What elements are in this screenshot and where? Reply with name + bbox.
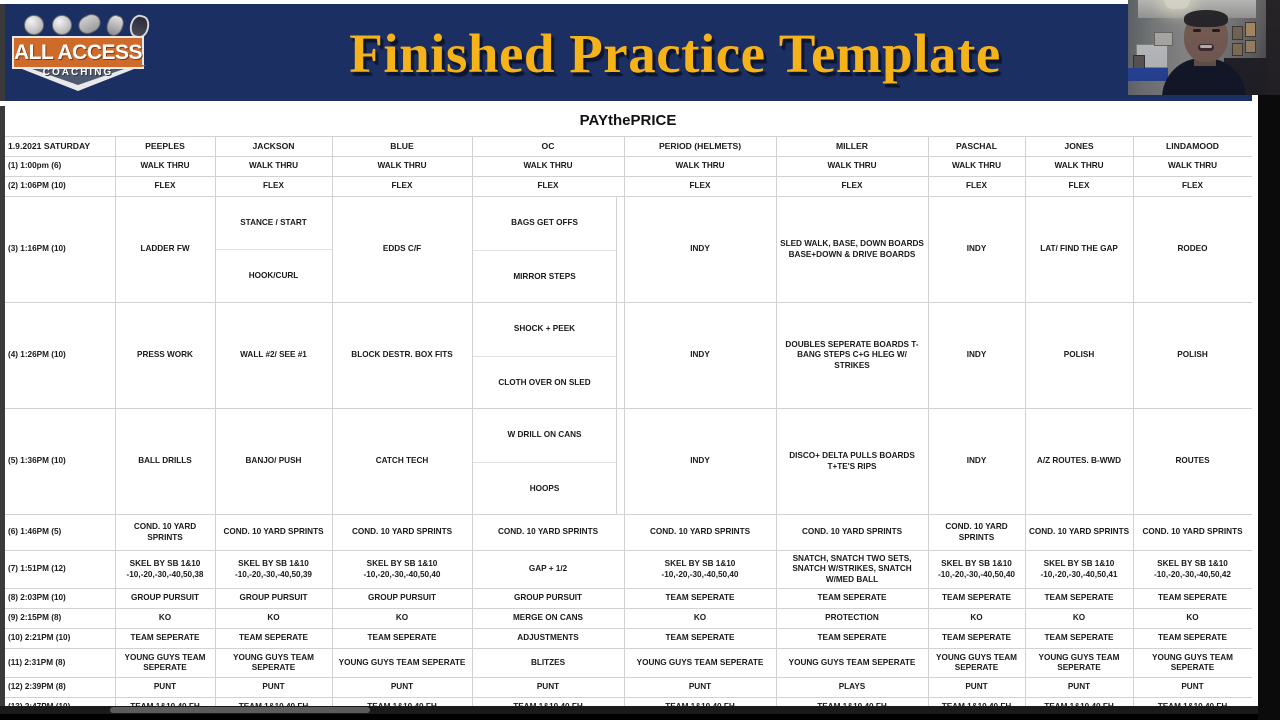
title-banner: Finished Practice Template [0, 4, 1252, 101]
schedule-cell[interactable]: FLEX [332, 177, 472, 197]
schedule-cell[interactable]: TEAM SEPERATE [1025, 629, 1133, 649]
period-time-cell[interactable]: (2) 1:06PM (10) [5, 177, 115, 197]
all-access-coaching-logo: ALL ACCESS COACHING [8, 10, 148, 102]
schedule-cell[interactable]: SNATCH, SNATCH TWO SETS, SNATCH W/STRIKE… [776, 551, 928, 589]
period-time-cell[interactable]: (8) 2:03PM (10) [5, 589, 115, 609]
schedule-cell[interactable]: KO [332, 609, 472, 629]
schedule-cell[interactable]: GROUP PURSUIT [472, 589, 624, 609]
scrollbar-thumb[interactable] [110, 707, 370, 713]
screen-share-window: Finished Practice Template ALL ACCESS CO… [0, 0, 1280, 720]
schedule-cell[interactable]: TEAM SEPERATE [115, 629, 215, 649]
schedule-cell[interactable]: KO [1025, 609, 1133, 629]
schedule-cell[interactable]: CATCH TECH [332, 409, 472, 515]
schedule-subcell[interactable]: HOOK/CURL [216, 250, 332, 303]
column-header-coach[interactable]: PEEPLES [115, 137, 215, 157]
schedule-cell[interactable]: TEAM SEPERATE [624, 629, 776, 649]
schedule-cell[interactable]: GROUP PURSUIT [332, 589, 472, 609]
column-header-coach[interactable]: LINDAMOOD [1133, 137, 1252, 157]
period-time-cell[interactable]: (12) 2:39PM (8) [5, 678, 115, 698]
table-row: (5) 1:36PM (10)BALL DRILLSBANJO/ PUSHCAT… [5, 409, 1252, 515]
schedule-cell[interactable]: PUNT [1133, 678, 1252, 698]
schedule-cell[interactable]: YOUNG GUYS TEAM SEPERATE [928, 649, 1025, 678]
schedule-cell[interactable]: WALK THRU [928, 157, 1025, 177]
schedule-cell[interactable]: WALK THRU [624, 157, 776, 177]
period-time-cell[interactable]: (5) 1:36PM (10) [5, 409, 115, 515]
schedule-cell[interactable]: LADDER FW [115, 197, 215, 303]
baseball-icon [24, 15, 44, 35]
period-time-cell[interactable]: (9) 2:15PM (8) [5, 609, 115, 629]
schedule-cell[interactable]: KO [115, 609, 215, 629]
schedule-cell[interactable]: TEAM SEPERATE [776, 589, 928, 609]
period-time-cell[interactable]: (4) 1:26PM (10) [5, 303, 115, 409]
logo-sub-text: COACHING [22, 67, 134, 78]
schedule-cell[interactable]: TEAM SEPERATE [624, 589, 776, 609]
schedule-cell[interactable]: GROUP PURSUIT [115, 589, 215, 609]
schedule-cell[interactable]: BALL DRILLS [115, 409, 215, 515]
schedule-cell[interactable]: PRESS WORK [115, 303, 215, 409]
schedule-cell[interactable]: COND. 10 YARD SPRINTS [1025, 515, 1133, 551]
schedule-cell[interactable]: PLAYS [776, 678, 928, 698]
period-time-cell[interactable]: (6) 1:46PM (5) [5, 515, 115, 551]
table-row: (7) 1:51PM (12)SKEL BY SB 1&10 -10,-20,-… [5, 551, 1252, 589]
column-header-coach[interactable]: PASCHAL [928, 137, 1025, 157]
schedule-cell[interactable]: FLEX [1133, 177, 1252, 197]
table-row: (2) 1:06PM (10)FLEXFLEXFLEXFLEXFLEXFLEXF… [5, 177, 1252, 197]
schedule-cell[interactable]: TEAM SEPERATE [215, 629, 332, 649]
schedule-cell[interactable]: SLED WALK, BASE, DOWN BOARDS BASE+DOWN &… [776, 197, 928, 303]
schedule-cell[interactable]: PUNT [928, 678, 1025, 698]
schedule-cell[interactable]: WALK THRU [215, 157, 332, 177]
schedule-cell[interactable]: TEAM SEPERATE [928, 589, 1025, 609]
schedule-subcell[interactable]: HOOPS [473, 463, 617, 515]
schedule-cell[interactable]: ROUTES [1133, 409, 1252, 515]
schedule-subcell[interactable]: BAGS GET OFFS [473, 197, 617, 251]
schedule-cell[interactable]: KO [215, 609, 332, 629]
schedule-cell[interactable]: SKEL BY SB 1&10 -10,-20,-30,-40,50,41 [1025, 551, 1133, 589]
schedule-cell[interactable]: INDY [624, 303, 776, 409]
schedule-cell[interactable]: A/Z ROUTES. B-WWD [1025, 409, 1133, 515]
schedule-cell[interactable]: EDDS C/F [332, 197, 472, 303]
schedule-cell[interactable]: PUNT [472, 678, 624, 698]
schedule-subcell[interactable]: CLOTH OVER ON SLED [473, 357, 617, 409]
schedule-cell[interactable]: TEAM SEPERATE [1025, 589, 1133, 609]
logo-main-text: ALL ACCESS [14, 38, 142, 67]
schedule-cell[interactable]: LAT/ FIND THE GAP [1025, 197, 1133, 303]
schedule-subcell[interactable]: MIRROR STEPS [473, 251, 617, 303]
schedule-cell[interactable]: KO [624, 609, 776, 629]
column-header-date[interactable]: 1.9.2021 SATURDAY [5, 137, 115, 157]
schedule-cell[interactable]: PUNT [624, 678, 776, 698]
schedule-cell[interactable]: FLEX [624, 177, 776, 197]
practice-schedule-table[interactable]: 1.9.2021 SATURDAYPEEPLESJACKSONBLUEOCPER… [5, 136, 1252, 708]
schedule-cell[interactable]: INDY [624, 197, 776, 303]
schedule-cell[interactable]: WALK THRU [332, 157, 472, 177]
schedule-cell[interactable]: INDY [928, 197, 1025, 303]
schedule-cell[interactable]: COND. 10 YARD SPRINTS [624, 515, 776, 551]
table-row: (8) 2:03PM (10)GROUP PURSUITGROUP PURSUI… [5, 589, 1252, 609]
schedule-cell[interactable]: FLEX [115, 177, 215, 197]
schedule-cell[interactable]: FLEX [776, 177, 928, 197]
period-time-cell[interactable]: (11) 2:31PM (8) [5, 649, 115, 678]
schedule-cell[interactable]: KO [1133, 609, 1252, 629]
schedule-cell[interactable]: SKEL BY SB 1&10 -10,-20,-30,-40,50,40 [332, 551, 472, 589]
schedule-cell[interactable]: SKEL BY SB 1&10 -10,-20,-30,-40,50,40 [624, 551, 776, 589]
table-row: (12) 2:39PM (8)PUNTPUNTPUNTPUNTPUNTPLAYS… [5, 678, 1252, 698]
logo-wordmark: ALL ACCESS [12, 36, 144, 69]
schedule-cell[interactable]: WALL #2/ SEE #1 [215, 303, 332, 409]
period-time-cell[interactable]: (3) 1:16PM (10) [5, 197, 115, 303]
schedule-cell[interactable]: DISCO+ DELTA PULLS BOARDS T+TE'S RIPS [776, 409, 928, 515]
schedule-cell[interactable]: TEAM SEPERATE [1133, 589, 1252, 609]
column-header-coach[interactable]: JACKSON [215, 137, 332, 157]
schedule-cell[interactable]: STANCE / STARTHOOK/CURL [215, 197, 332, 303]
schedule-cell[interactable]: W DRILL ON CANSHOOPS [472, 409, 624, 515]
schedule-cell[interactable]: COND. 10 YARD SPRINTS [472, 515, 624, 551]
schedule-cell[interactable]: TEAM SEPERATE [928, 629, 1025, 649]
period-time-cell[interactable]: (7) 1:51PM (12) [5, 551, 115, 589]
schedule-cell[interactable]: PUNT [115, 678, 215, 698]
football-icon [75, 11, 104, 38]
schedule-cell[interactable]: INDY [624, 409, 776, 515]
schedule-cell[interactable]: YOUNG GUYS TEAM SEPERATE [1025, 649, 1133, 678]
schedule-cell[interactable]: BAGS GET OFFSMIRROR STEPS [472, 197, 624, 303]
schedule-subcell[interactable]: SHOCK + PEEK [473, 303, 617, 357]
table-row: (4) 1:26PM (10)PRESS WORKWALL #2/ SEE #1… [5, 303, 1252, 409]
schedule-cell[interactable]: RODEO [1133, 197, 1252, 303]
cell-divider-strip [616, 303, 624, 408]
shared-content-area: Finished Practice Template ALL ACCESS CO… [0, 0, 1261, 720]
schedule-cell[interactable]: DOUBLES SEPERATE BOARDS T-BANG STEPS C+G… [776, 303, 928, 409]
page-title: Finished Practice Template [175, 22, 1175, 85]
schedule-cell[interactable]: INDY [928, 409, 1025, 515]
schedule-cell[interactable]: PROTECTION [776, 609, 928, 629]
schedule-cell[interactable]: YOUNG GUYS TEAM SEPERATE [115, 649, 215, 678]
schedule-cell[interactable]: INDY [928, 303, 1025, 409]
schedule-cell[interactable]: PUNT [1025, 678, 1133, 698]
schedule-cell[interactable]: COND. 10 YARD SPRINTS [776, 515, 928, 551]
table-row: (11) 2:31PM (8)YOUNG GUYS TEAM SEPERATEY… [5, 649, 1252, 678]
presenter-webcam-video[interactable] [1128, 0, 1280, 95]
schedule-cell[interactable]: COND. 10 YARD SPRINTS [332, 515, 472, 551]
schedule-cell[interactable]: WALK THRU [1133, 157, 1252, 177]
practice-template-sheet[interactable]: PAYthePRICE 1.9.2021 SATURDAYPEEPLESJACK… [0, 106, 1252, 708]
schedule-cell[interactable]: YOUNG GUYS TEAM SEPERATE [776, 649, 928, 678]
table-row: (6) 1:46PM (5)COND. 10 YARD SPRINTSCOND.… [5, 515, 1252, 551]
schedule-cell[interactable]: COND. 10 YARD SPRINTS [215, 515, 332, 551]
period-time-cell[interactable]: (1) 1:00pm (6) [5, 157, 115, 177]
column-header-coach[interactable]: PERIOD (HELMETS) [624, 137, 776, 157]
table-row: (9) 2:15PM (8)KOKOKOMERGE ON CANSKOPROTE… [5, 609, 1252, 629]
schedule-cell[interactable]: MERGE ON CANS [472, 609, 624, 629]
schedule-cell[interactable]: WALK THRU [115, 157, 215, 177]
table-body: 1.9.2021 SATURDAYPEEPLESJACKSONBLUEOCPER… [5, 137, 1252, 709]
table-header-row: 1.9.2021 SATURDAYPEEPLESJACKSONBLUEOCPER… [5, 137, 1252, 157]
schedule-cell[interactable]: TEAM SEPERATE [776, 629, 928, 649]
sheet-title: PAYthePRICE [5, 106, 1252, 136]
schedule-subcell[interactable]: W DRILL ON CANS [473, 409, 617, 463]
basketball-icon [52, 15, 72, 35]
schedule-cell[interactable]: PUNT [332, 678, 472, 698]
schedule-cell[interactable]: SHOCK + PEEKCLOTH OVER ON SLED [472, 303, 624, 409]
schedule-cell[interactable]: PUNT [215, 678, 332, 698]
schedule-cell[interactable]: YOUNG GUYS TEAM SEPERATE [215, 649, 332, 678]
horizontal-scrollbar[interactable] [0, 706, 1258, 714]
schedule-cell[interactable]: COND. 10 YARD SPRINTS [928, 515, 1025, 551]
schedule-cell[interactable]: YOUNG GUYS TEAM SEPERATE [624, 649, 776, 678]
whistle-icon [104, 13, 126, 38]
schedule-cell[interactable]: TEAM SEPERATE [1133, 629, 1252, 649]
schedule-cell[interactable]: FLEX [1025, 177, 1133, 197]
column-header-coach[interactable]: OC [472, 137, 624, 157]
schedule-cell[interactable]: FLEX [928, 177, 1025, 197]
period-time-cell[interactable]: (10) 2:21PM (10) [5, 629, 115, 649]
schedule-cell[interactable]: YOUNG GUYS TEAM SEPERATE [332, 649, 472, 678]
schedule-cell[interactable]: SKEL BY SB 1&10 -10,-20,-30,-40,50,39 [215, 551, 332, 589]
schedule-cell[interactable]: POLISH [1025, 303, 1133, 409]
cell-divider-strip [616, 409, 624, 514]
schedule-cell[interactable]: COND. 10 YARD SPRINTS [1133, 515, 1252, 551]
cell-divider-strip [616, 197, 624, 302]
table-row: (1) 1:00pm (6)WALK THRUWALK THRUWALK THR… [5, 157, 1252, 177]
schedule-cell[interactable]: GROUP PURSUIT [215, 589, 332, 609]
schedule-cell[interactable]: WALK THRU [472, 157, 624, 177]
schedule-cell[interactable]: SKEL BY SB 1&10 -10,-20,-30,-40,50,38 [115, 551, 215, 589]
table-row: (10) 2:21PM (10)TEAM SEPERATETEAM SEPERA… [5, 629, 1252, 649]
schedule-cell[interactable]: SKEL BY SB 1&10 -10,-20,-30,-40,50,40 [928, 551, 1025, 589]
column-header-coach[interactable]: BLUE [332, 137, 472, 157]
schedule-subcell[interactable]: STANCE / START [216, 197, 332, 250]
schedule-cell[interactable]: KO [928, 609, 1025, 629]
schedule-cell[interactable]: BLITZES [472, 649, 624, 678]
schedule-cell[interactable]: POLISH [1133, 303, 1252, 409]
column-header-coach[interactable]: JONES [1025, 137, 1133, 157]
schedule-cell[interactable]: ADJUSTMENTS [472, 629, 624, 649]
schedule-cell[interactable]: WALK THRU [1025, 157, 1133, 177]
schedule-cell[interactable]: YOUNG GUYS TEAM SEPERATE [1133, 649, 1252, 678]
schedule-cell[interactable]: SKEL BY SB 1&10 -10,-20,-30,-40,50,42 [1133, 551, 1252, 589]
schedule-cell[interactable]: WALK THRU [776, 157, 928, 177]
schedule-cell[interactable]: BANJO/ PUSH [215, 409, 332, 515]
schedule-cell[interactable]: BLOCK DESTR. BOX FITS [332, 303, 472, 409]
webcam-color-tint [1128, 0, 1280, 95]
column-header-coach[interactable]: MILLER [776, 137, 928, 157]
schedule-cell[interactable]: TEAM SEPERATE [332, 629, 472, 649]
schedule-cell[interactable]: FLEX [215, 177, 332, 197]
schedule-cell[interactable]: COND. 10 YARD SPRINTS [115, 515, 215, 551]
table-row: (3) 1:16PM (10)LADDER FWSTANCE / STARTHO… [5, 197, 1252, 303]
schedule-cell[interactable]: FLEX [472, 177, 624, 197]
schedule-cell[interactable]: GAP + 1/2 [472, 551, 624, 589]
window-right-gutter [1258, 95, 1280, 720]
